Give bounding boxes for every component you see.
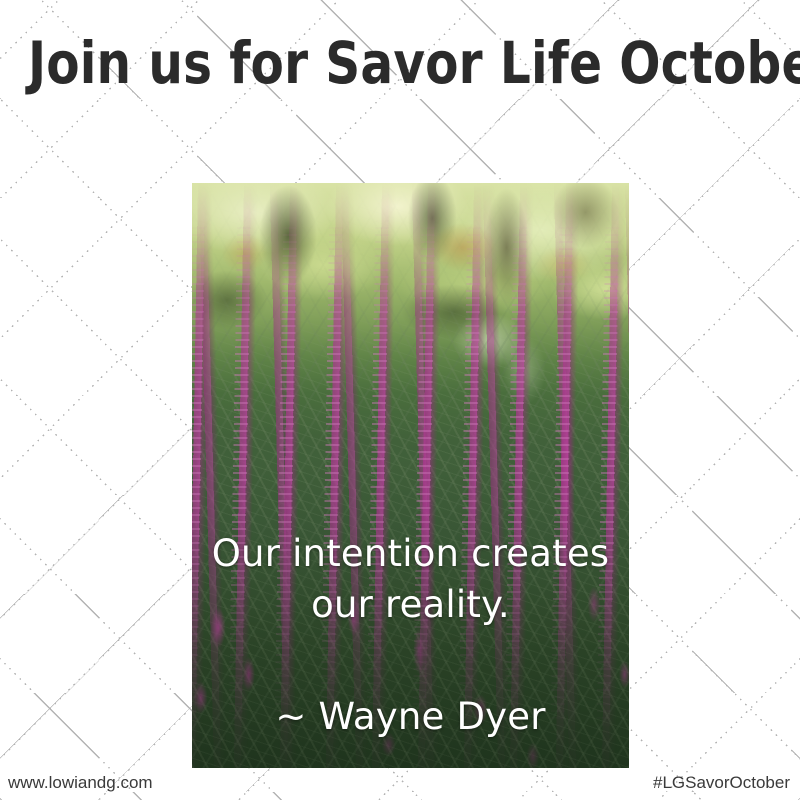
garden-photo [192, 183, 629, 768]
promo-graphic-canvas: Join us for Savor Life October! Our inte… [0, 0, 800, 800]
photo-depth-shading-layer [192, 183, 629, 768]
footer-hashtag[interactable]: #LGSavorOctober [653, 772, 790, 794]
footer-website[interactable]: www.lowiandg.com [8, 772, 153, 794]
page-title: Join us for Savor Life October! [28, 28, 772, 98]
